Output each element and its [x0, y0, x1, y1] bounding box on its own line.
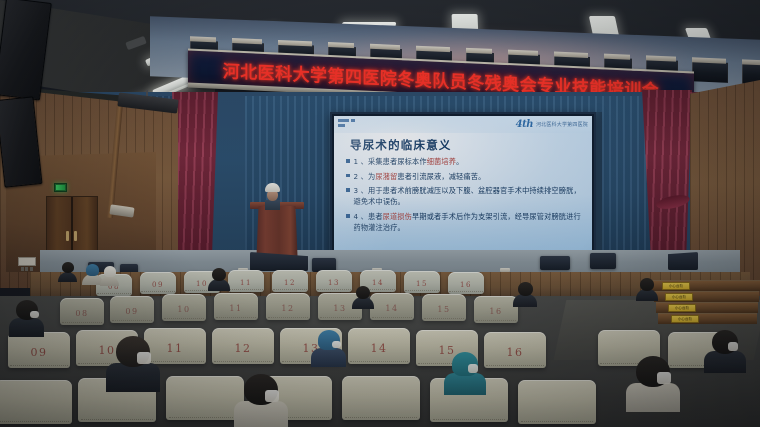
- attendee-left-edge: [16, 300, 38, 333]
- attendee-foreground-right: [636, 356, 670, 407]
- face-mask: [468, 364, 478, 373]
- person-head: [356, 286, 370, 299]
- person-shoulders: [9, 318, 44, 337]
- attendee-foreground-left: [116, 336, 150, 387]
- attendee-blue-cap-left: [86, 264, 99, 284]
- audience-people: [0, 0, 760, 427]
- person-head: [640, 278, 654, 291]
- face-mask: [30, 311, 39, 318]
- person-shoulders: [626, 383, 680, 412]
- person-head: [518, 282, 533, 296]
- person-shoulders: [311, 348, 346, 367]
- face-mask: [265, 390, 279, 402]
- attendee-dark-hair-4: [518, 282, 533, 305]
- attendee-dark-hair-5: [640, 278, 654, 299]
- person-shoulders: [444, 373, 486, 395]
- attendee-dark-hair-3: [356, 286, 370, 307]
- face-mask: [137, 352, 151, 364]
- auditorium-photo: 河北医科大学第四医院冬奥队员冬残奥会专业技能培训会 4th: [0, 0, 760, 427]
- attendee-dark-hair-2: [212, 268, 226, 289]
- person-shoulders: [106, 363, 160, 392]
- person-head: [62, 262, 74, 273]
- person-shoulders: [704, 351, 746, 373]
- attendee-masked-right: [712, 330, 738, 369]
- attendee-white-cap-left: [104, 266, 116, 284]
- attendee-foreground-mid: [244, 374, 278, 425]
- person-head: [104, 266, 116, 277]
- attendee-teal-cap: [452, 352, 478, 391]
- attendee-dark-hair-1: [62, 262, 74, 280]
- face-mask: [332, 341, 341, 348]
- person-head: [212, 268, 226, 281]
- attendee-navy-cap: [318, 330, 340, 363]
- face-mask: [657, 372, 671, 384]
- face-mask: [728, 342, 738, 351]
- person-shoulders: [58, 272, 77, 282]
- person-head: [86, 264, 99, 276]
- person-shoulders: [100, 276, 119, 286]
